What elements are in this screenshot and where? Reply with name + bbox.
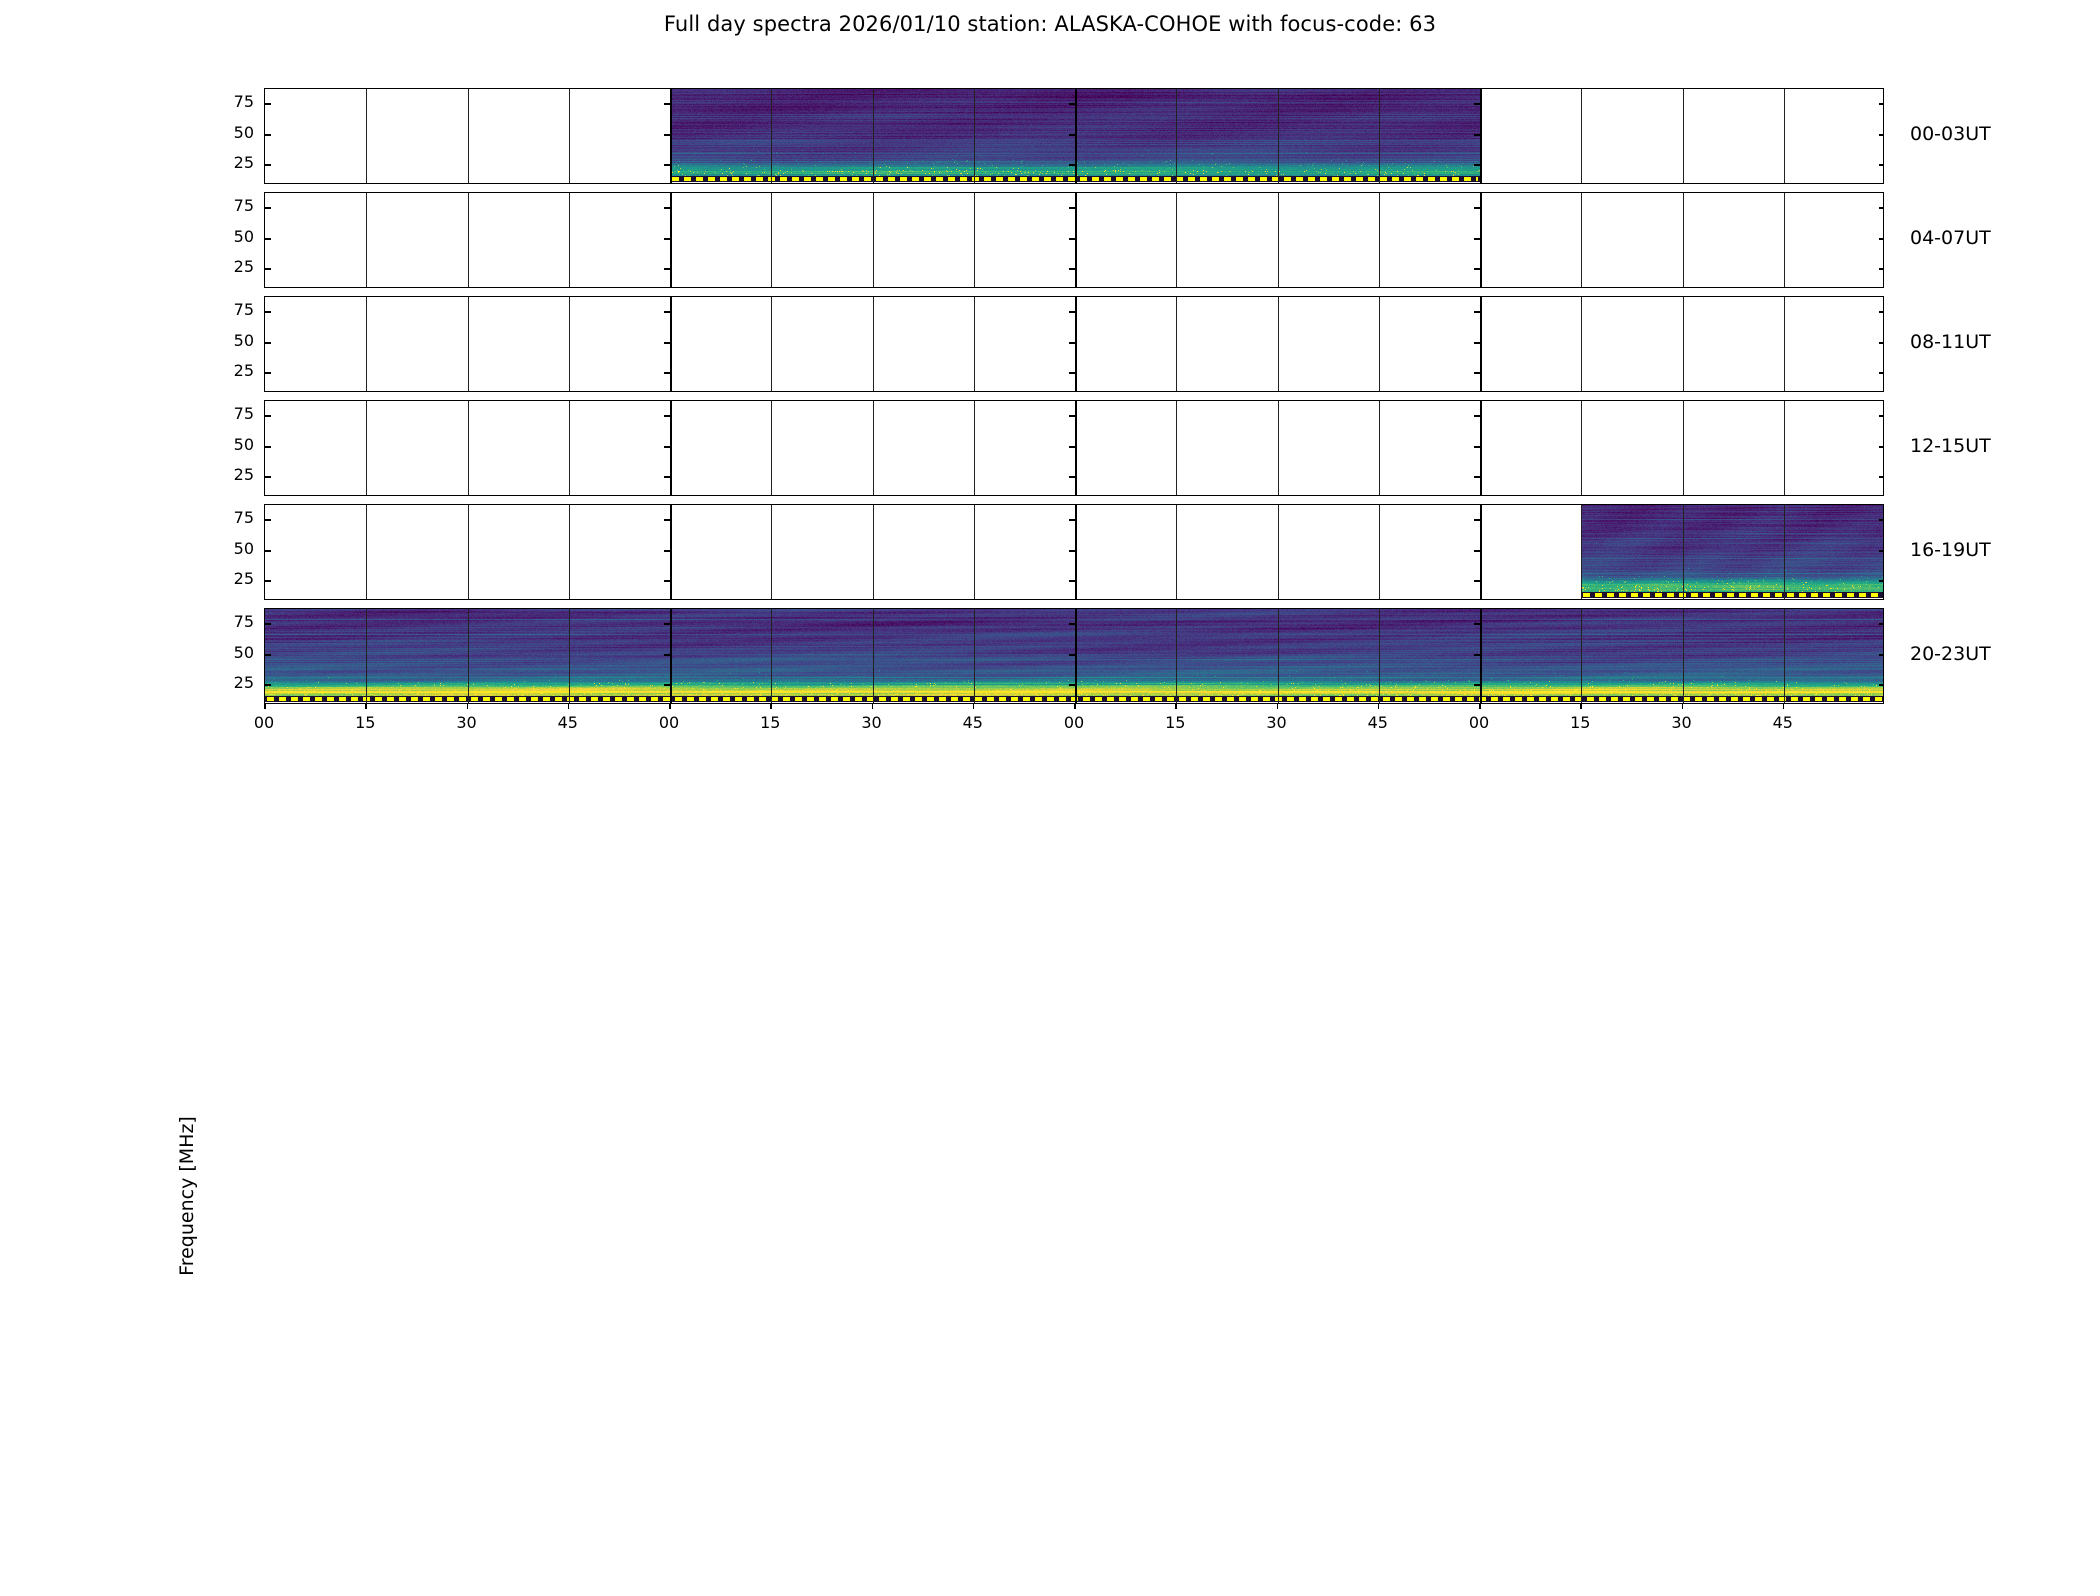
y-tick-mark — [1879, 134, 1884, 136]
grid-line-vertical — [1683, 297, 1684, 391]
x-tick-mark — [973, 704, 975, 709]
x-tick-label: 45 — [963, 713, 983, 732]
y-tick-mark — [1069, 550, 1075, 552]
grid-line-vertical — [1075, 89, 1077, 183]
y-tick-mark — [265, 238, 271, 240]
y-tick-mark — [1069, 519, 1075, 521]
grid-line-vertical — [1075, 193, 1077, 287]
y-tick-mark — [1069, 342, 1075, 344]
y-tick-mark — [265, 311, 271, 313]
grid-line-vertical — [1379, 193, 1380, 287]
x-tick-mark — [1479, 704, 1481, 709]
grid-line-vertical — [1784, 609, 1785, 703]
y-tick-mark — [1474, 519, 1480, 521]
grid-line-vertical — [1278, 505, 1279, 599]
grid-line-vertical — [1176, 401, 1177, 495]
x-tick-mark — [872, 704, 874, 709]
y-tick-mark — [265, 134, 271, 136]
y-tick-mark — [265, 372, 271, 374]
y-tick-mark — [265, 519, 271, 521]
y-tick-label: 25 — [202, 465, 254, 484]
y-tick-mark — [265, 103, 271, 105]
y-tick-mark — [664, 103, 670, 105]
y-tick-mark — [664, 415, 670, 417]
y-tick-mark — [1879, 654, 1884, 656]
y-tick-mark — [664, 654, 670, 656]
y-tick-mark — [1474, 238, 1480, 240]
grid-line-vertical — [670, 193, 672, 287]
grid-line-vertical — [670, 89, 672, 183]
grid-line-vertical — [468, 89, 469, 183]
grid-line-vertical — [1480, 401, 1482, 495]
grid-line-vertical — [569, 193, 570, 287]
y-tick-mark — [1069, 238, 1075, 240]
grid-line-vertical — [1784, 401, 1785, 495]
y-tick-mark — [664, 164, 670, 166]
y-tick-mark — [1069, 580, 1075, 582]
y-tick-mark — [1474, 415, 1480, 417]
y-tick-mark — [1879, 580, 1884, 582]
x-tick-label: 45 — [1368, 713, 1388, 732]
grid-line-vertical — [873, 401, 874, 495]
grid-line-vertical — [1278, 193, 1279, 287]
grid-line-vertical — [1480, 297, 1482, 391]
y-tick-mark — [1474, 476, 1480, 478]
grid-line-vertical — [366, 89, 367, 183]
x-tick-mark — [1175, 704, 1177, 709]
grid-line-vertical — [1379, 89, 1380, 183]
grid-line-vertical — [1480, 505, 1482, 599]
grid-line-vertical — [1784, 193, 1785, 287]
y-tick-mark — [1069, 134, 1075, 136]
y-tick-mark — [1879, 207, 1884, 209]
grid-line-vertical — [1784, 505, 1785, 599]
x-tick-label: 00 — [1064, 713, 1084, 732]
grid-line-vertical — [468, 609, 469, 703]
grid-line-vertical — [670, 401, 672, 495]
y-tick-label: 50 — [202, 227, 254, 246]
row-label-04-07ut: 04-07UT — [1910, 227, 1991, 249]
y-tick-mark — [1879, 342, 1884, 344]
x-tick-label: 00 — [659, 713, 679, 732]
y-tick-mark — [664, 207, 670, 209]
y-tick-mark — [664, 550, 670, 552]
grid-line-vertical — [569, 609, 570, 703]
grid-line-vertical — [1379, 401, 1380, 495]
grid-line-vertical — [366, 609, 367, 703]
x-tick-label: 15 — [1165, 713, 1185, 732]
y-tick-mark — [265, 684, 271, 686]
y-tick-mark — [664, 238, 670, 240]
y-tick-mark — [1474, 311, 1480, 313]
grid-line-vertical — [974, 89, 975, 183]
grid-line-vertical — [771, 89, 772, 183]
y-tick-mark — [1069, 654, 1075, 656]
y-tick-label: 50 — [202, 331, 254, 350]
y-tick-label: 75 — [202, 196, 254, 215]
y-tick-mark — [1069, 372, 1075, 374]
y-tick-mark — [1879, 238, 1884, 240]
y-tick-mark — [1069, 268, 1075, 270]
grid-line-vertical — [1683, 193, 1684, 287]
grid-line-vertical — [771, 609, 772, 703]
grid-line-vertical — [1683, 401, 1684, 495]
grid-line-vertical — [873, 193, 874, 287]
grid-line-vertical — [1278, 609, 1279, 703]
grid-line-vertical — [974, 505, 975, 599]
grid-line-vertical — [1581, 401, 1582, 495]
y-tick-label: 75 — [202, 92, 254, 111]
row-label-20-23ut: 20-23UT — [1910, 643, 1991, 665]
x-tick-label: 15 — [355, 713, 375, 732]
x-tick-mark — [669, 704, 671, 709]
x-tick-label: 30 — [1671, 713, 1691, 732]
grid-line-vertical — [873, 609, 874, 703]
y-tick-mark — [1474, 684, 1480, 686]
grid-line-vertical — [1784, 297, 1785, 391]
y-tick-mark — [1879, 415, 1884, 417]
y-tick-label: 50 — [202, 435, 254, 454]
grid-line-vertical — [1683, 505, 1684, 599]
grid-line-vertical — [569, 401, 570, 495]
x-tick-mark — [770, 704, 772, 709]
y-tick-mark — [1474, 623, 1480, 625]
y-tick-label: 25 — [202, 361, 254, 380]
x-tick-label: 00 — [254, 713, 274, 732]
y-tick-mark — [1069, 476, 1075, 478]
y-tick-mark — [265, 342, 271, 344]
grid-line-vertical — [1176, 193, 1177, 287]
y-tick-mark — [1474, 164, 1480, 166]
x-tick-mark — [1277, 704, 1279, 709]
grid-line-vertical — [1581, 505, 1582, 599]
y-tick-mark — [1474, 580, 1480, 582]
y-tick-mark — [265, 623, 271, 625]
grid-line-vertical — [1176, 505, 1177, 599]
y-tick-mark — [1879, 519, 1884, 521]
grid-line-vertical — [1075, 609, 1077, 703]
grid-line-vertical — [1581, 89, 1582, 183]
grid-line-vertical — [1278, 297, 1279, 391]
grid-line-vertical — [670, 297, 672, 391]
y-tick-mark — [1474, 372, 1480, 374]
grid-line-vertical — [1075, 505, 1077, 599]
grid-line-vertical — [468, 193, 469, 287]
y-tick-mark — [1879, 550, 1884, 552]
y-tick-mark — [1879, 372, 1884, 374]
y-tick-mark — [1879, 623, 1884, 625]
y-tick-mark — [1069, 684, 1075, 686]
y-tick-mark — [265, 476, 271, 478]
y-tick-mark — [664, 684, 670, 686]
y-axis-label: Frequency [MHz] — [176, 796, 202, 1596]
y-tick-label: 50 — [202, 539, 254, 558]
y-tick-mark — [1069, 446, 1075, 448]
grid-line-vertical — [1581, 297, 1582, 391]
spectrogram-panel-12-15ut — [264, 400, 1884, 496]
y-tick-mark — [1879, 164, 1884, 166]
y-tick-mark — [1879, 103, 1884, 105]
grid-line-vertical — [1075, 401, 1077, 495]
grid-line-vertical — [1379, 297, 1380, 391]
spectrogram-panel-00-03ut — [264, 88, 1884, 184]
y-tick-mark — [1474, 103, 1480, 105]
y-tick-mark — [265, 446, 271, 448]
grid-line-vertical — [366, 505, 367, 599]
x-tick-mark — [467, 704, 469, 709]
y-tick-label: 75 — [202, 300, 254, 319]
y-tick-mark — [1879, 476, 1884, 478]
y-tick-mark — [1474, 654, 1480, 656]
x-tick-mark — [568, 704, 570, 709]
y-tick-mark — [664, 623, 670, 625]
grid-line-vertical — [1784, 89, 1785, 183]
y-tick-mark — [664, 446, 670, 448]
y-tick-mark — [664, 519, 670, 521]
grid-line-vertical — [1176, 297, 1177, 391]
grid-line-vertical — [771, 193, 772, 287]
grid-line-vertical — [1278, 89, 1279, 183]
y-tick-mark — [1474, 446, 1480, 448]
y-tick-label: 25 — [202, 569, 254, 588]
grid-line-vertical — [366, 193, 367, 287]
y-tick-label: 75 — [202, 612, 254, 631]
y-tick-mark — [1474, 342, 1480, 344]
y-tick-mark — [664, 268, 670, 270]
y-tick-label: 75 — [202, 404, 254, 423]
grid-line-vertical — [771, 297, 772, 391]
grid-line-vertical — [1278, 401, 1279, 495]
y-tick-label: 75 — [202, 508, 254, 527]
y-tick-mark — [265, 268, 271, 270]
row-label-08-11ut: 08-11UT — [1910, 331, 1991, 353]
y-tick-mark — [265, 654, 271, 656]
grid-line-vertical — [1683, 89, 1684, 183]
x-tick-mark — [365, 704, 367, 709]
y-tick-mark — [1069, 207, 1075, 209]
x-tick-label: 15 — [1570, 713, 1590, 732]
y-tick-mark — [265, 580, 271, 582]
grid-line-vertical — [1480, 609, 1482, 703]
y-tick-mark — [1069, 415, 1075, 417]
y-tick-mark — [1879, 446, 1884, 448]
x-tick-mark — [1074, 704, 1076, 709]
spectrogram-panel-04-07ut — [264, 192, 1884, 288]
y-axis-label-text: Frequency [MHz] — [176, 796, 198, 1596]
grid-line-vertical — [873, 505, 874, 599]
grid-line-vertical — [974, 609, 975, 703]
y-tick-mark — [664, 476, 670, 478]
y-tick-mark — [664, 311, 670, 313]
grid-line-vertical — [1480, 193, 1482, 287]
grid-line-vertical — [569, 89, 570, 183]
y-tick-label: 25 — [202, 673, 254, 692]
spectrogram-figure: Full day spectra 2026/01/10 station: ALA… — [0, 0, 2100, 800]
y-tick-label: 25 — [202, 153, 254, 172]
grid-line-vertical — [771, 505, 772, 599]
x-tick-label: 45 — [558, 713, 578, 732]
row-label-16-19ut: 16-19UT — [1910, 539, 1991, 561]
x-tick-mark — [264, 704, 266, 709]
grid-line-vertical — [1379, 505, 1380, 599]
grid-line-vertical — [569, 297, 570, 391]
grid-line-vertical — [569, 505, 570, 599]
grid-line-vertical — [1075, 297, 1077, 391]
y-tick-mark — [265, 415, 271, 417]
x-tick-mark — [1378, 704, 1380, 709]
spectrogram-panel-20-23ut — [264, 608, 1884, 704]
x-tick-label: 00 — [1469, 713, 1489, 732]
grid-line-vertical — [1683, 609, 1684, 703]
x-tick-mark — [1580, 704, 1582, 709]
y-tick-label: 50 — [202, 643, 254, 662]
y-tick-mark — [265, 164, 271, 166]
grid-line-vertical — [1176, 609, 1177, 703]
y-tick-mark — [664, 580, 670, 582]
y-tick-mark — [1474, 268, 1480, 270]
y-tick-mark — [1069, 103, 1075, 105]
grid-line-vertical — [468, 505, 469, 599]
x-tick-label: 30 — [1266, 713, 1286, 732]
grid-line-vertical — [670, 505, 672, 599]
grid-line-vertical — [873, 89, 874, 183]
grid-line-vertical — [974, 297, 975, 391]
y-tick-mark — [265, 207, 271, 209]
grid-line-vertical — [974, 193, 975, 287]
y-tick-mark — [1879, 684, 1884, 686]
y-tick-mark — [1069, 311, 1075, 313]
y-tick-mark — [1069, 623, 1075, 625]
y-tick-mark — [1069, 164, 1075, 166]
grid-line-vertical — [1581, 193, 1582, 287]
y-tick-mark — [664, 372, 670, 374]
x-tick-label: 45 — [1773, 713, 1793, 732]
x-tick-mark — [1783, 704, 1785, 709]
grid-line-vertical — [771, 401, 772, 495]
row-label-00-03ut: 00-03UT — [1910, 123, 1991, 145]
grid-line-vertical — [670, 609, 672, 703]
y-tick-mark — [1474, 550, 1480, 552]
x-tick-label: 30 — [861, 713, 881, 732]
grid-line-vertical — [366, 297, 367, 391]
grid-line-vertical — [1176, 89, 1177, 183]
grid-line-vertical — [873, 297, 874, 391]
y-tick-mark — [265, 550, 271, 552]
y-tick-mark — [664, 342, 670, 344]
grid-line-vertical — [366, 401, 367, 495]
x-tick-mark — [1682, 704, 1684, 709]
x-tick-label: 15 — [760, 713, 780, 732]
y-tick-mark — [1474, 207, 1480, 209]
y-tick-mark — [1879, 311, 1884, 313]
spectrogram-panel-16-19ut — [264, 504, 1884, 600]
y-tick-mark — [1879, 268, 1884, 270]
y-tick-label: 25 — [202, 257, 254, 276]
row-label-12-15ut: 12-15UT — [1910, 435, 1991, 457]
x-tick-label: 30 — [456, 713, 476, 732]
grid-line-vertical — [1581, 609, 1582, 703]
grid-line-vertical — [468, 297, 469, 391]
y-tick-label: 50 — [202, 123, 254, 142]
grid-line-vertical — [974, 401, 975, 495]
y-tick-mark — [664, 134, 670, 136]
figure-title: Full day spectra 2026/01/10 station: ALA… — [0, 12, 2100, 36]
grid-line-vertical — [468, 401, 469, 495]
grid-line-vertical — [1379, 609, 1380, 703]
grid-line-vertical — [1480, 89, 1482, 183]
y-tick-mark — [1474, 134, 1480, 136]
spectrogram-panel-08-11ut — [264, 296, 1884, 392]
